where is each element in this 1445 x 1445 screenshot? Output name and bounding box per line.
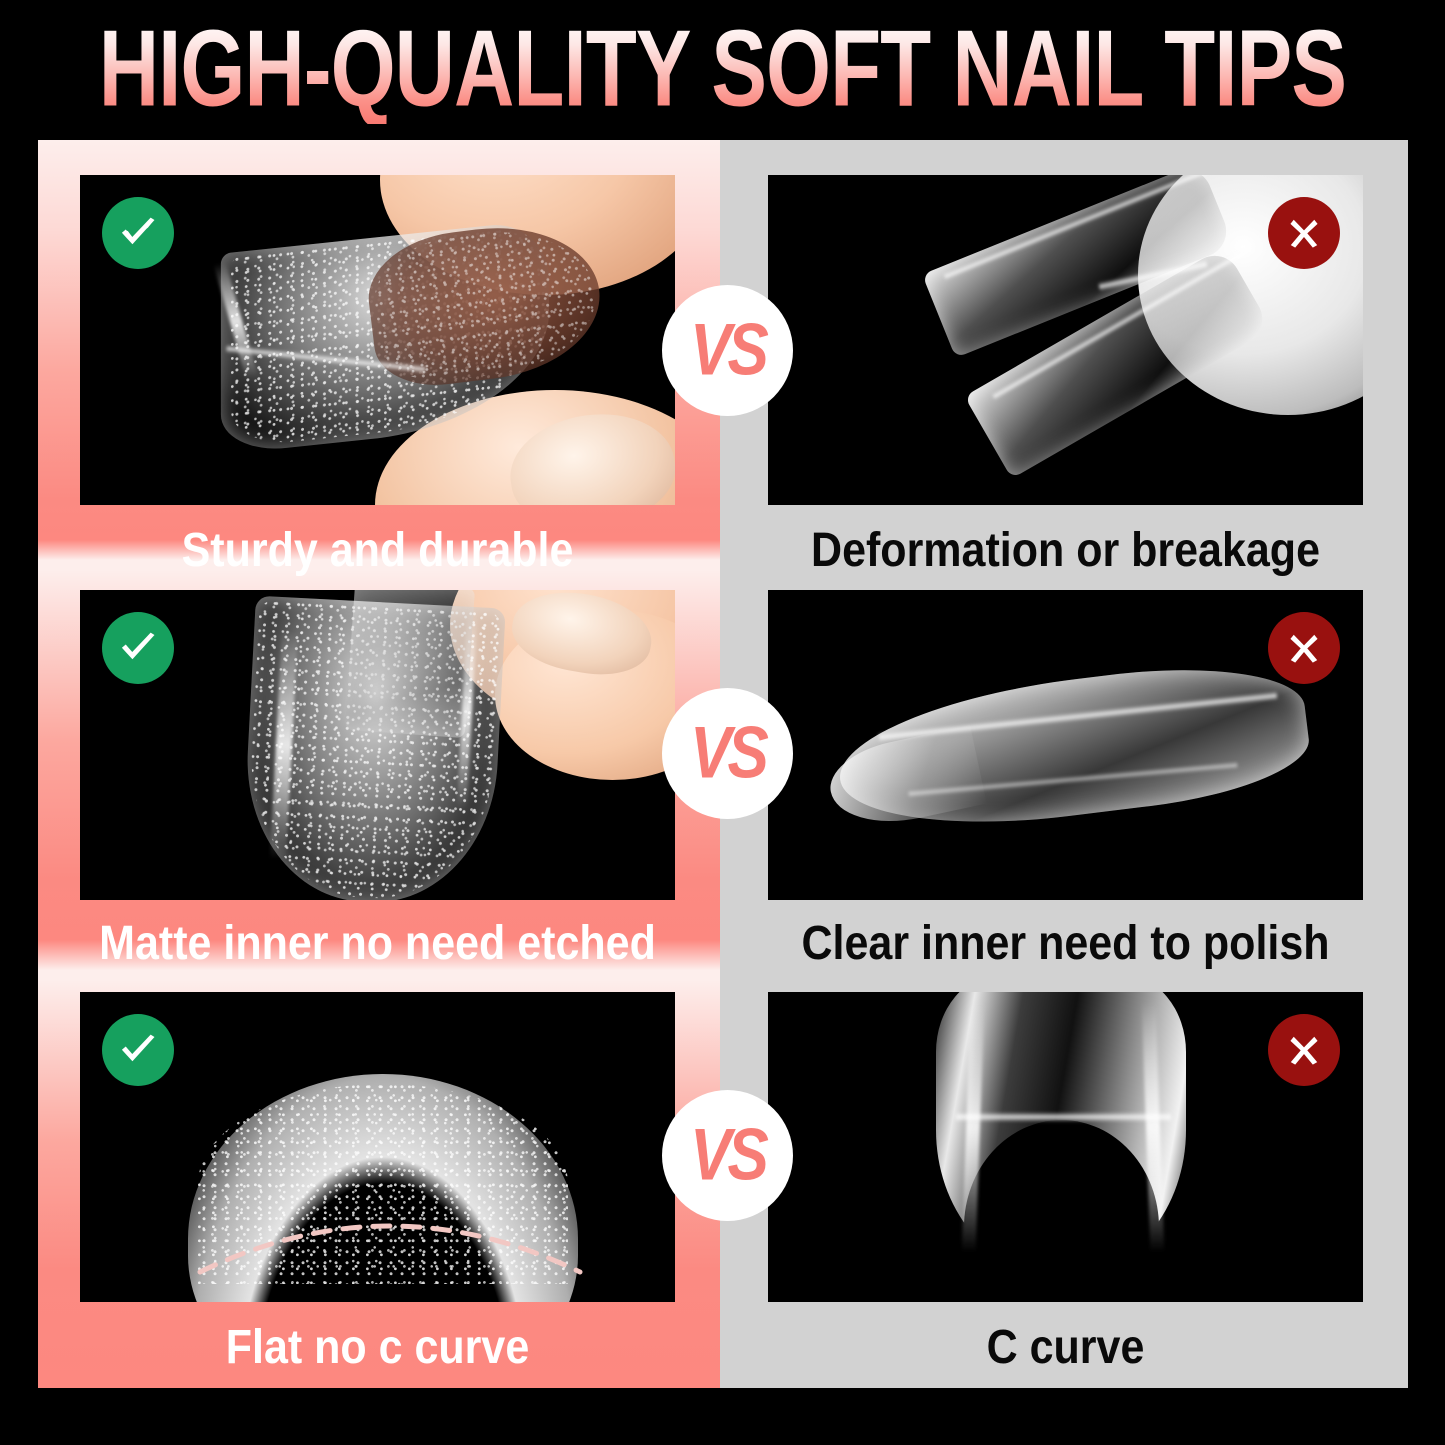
cell-good-inner-surface: Matte inner no need etched (80, 590, 675, 900)
bad-column-panel: Deformation or breakage (720, 140, 1408, 1388)
photo-good-inner-surface (80, 590, 675, 900)
cell-good-durability: Sturdy and durable (80, 175, 675, 505)
page-title: HIGH-QUALITY SOFT NAIL TIPS (99, 16, 1346, 124)
infographic-poster: HIGH-QUALITY SOFT NAIL TIPS (0, 0, 1445, 1445)
cell-bad-durability: Deformation or breakage (768, 175, 1363, 505)
photo-good-curvature (80, 992, 675, 1302)
poster-title-bar: HIGH-QUALITY SOFT NAIL TIPS (0, 0, 1445, 140)
vs-label: VS (690, 717, 765, 790)
caption-bad-inner-surface: Clear inner need to polish (768, 920, 1363, 968)
cross-icon (1268, 612, 1340, 684)
cross-icon (1268, 1014, 1340, 1086)
photo-bad-inner-surface (768, 590, 1363, 900)
caption-good-inner-surface: Matte inner no need etched (80, 920, 675, 968)
photo-good-durability (80, 175, 675, 505)
caption-good-curvature: Flat no c curve (80, 1324, 675, 1372)
vs-label: VS (690, 1119, 765, 1192)
flat-curve-marker (180, 1152, 600, 1292)
check-icon (102, 1014, 174, 1086)
check-icon (102, 197, 174, 269)
vs-badge-row-inner-surface: VS (662, 688, 793, 819)
photo-bad-curvature (768, 992, 1363, 1302)
vs-badge-row-curvature: VS (662, 1090, 793, 1221)
check-icon (102, 612, 174, 684)
cell-good-curvature: Flat no c curve (80, 992, 675, 1302)
caption-bad-durability: Deformation or breakage (768, 527, 1363, 575)
cell-bad-curvature: C curve (768, 992, 1363, 1302)
vs-badge-row-durability: VS (662, 285, 793, 416)
vs-label: VS (690, 314, 765, 387)
cell-bad-inner-surface: Clear inner need to polish (768, 590, 1363, 900)
good-column-panel: Sturdy and durable (38, 140, 720, 1388)
photo-bad-durability (768, 175, 1363, 505)
cross-icon (1268, 197, 1340, 269)
caption-bad-curvature: C curve (768, 1324, 1363, 1372)
caption-good-durability: Sturdy and durable (80, 527, 675, 575)
